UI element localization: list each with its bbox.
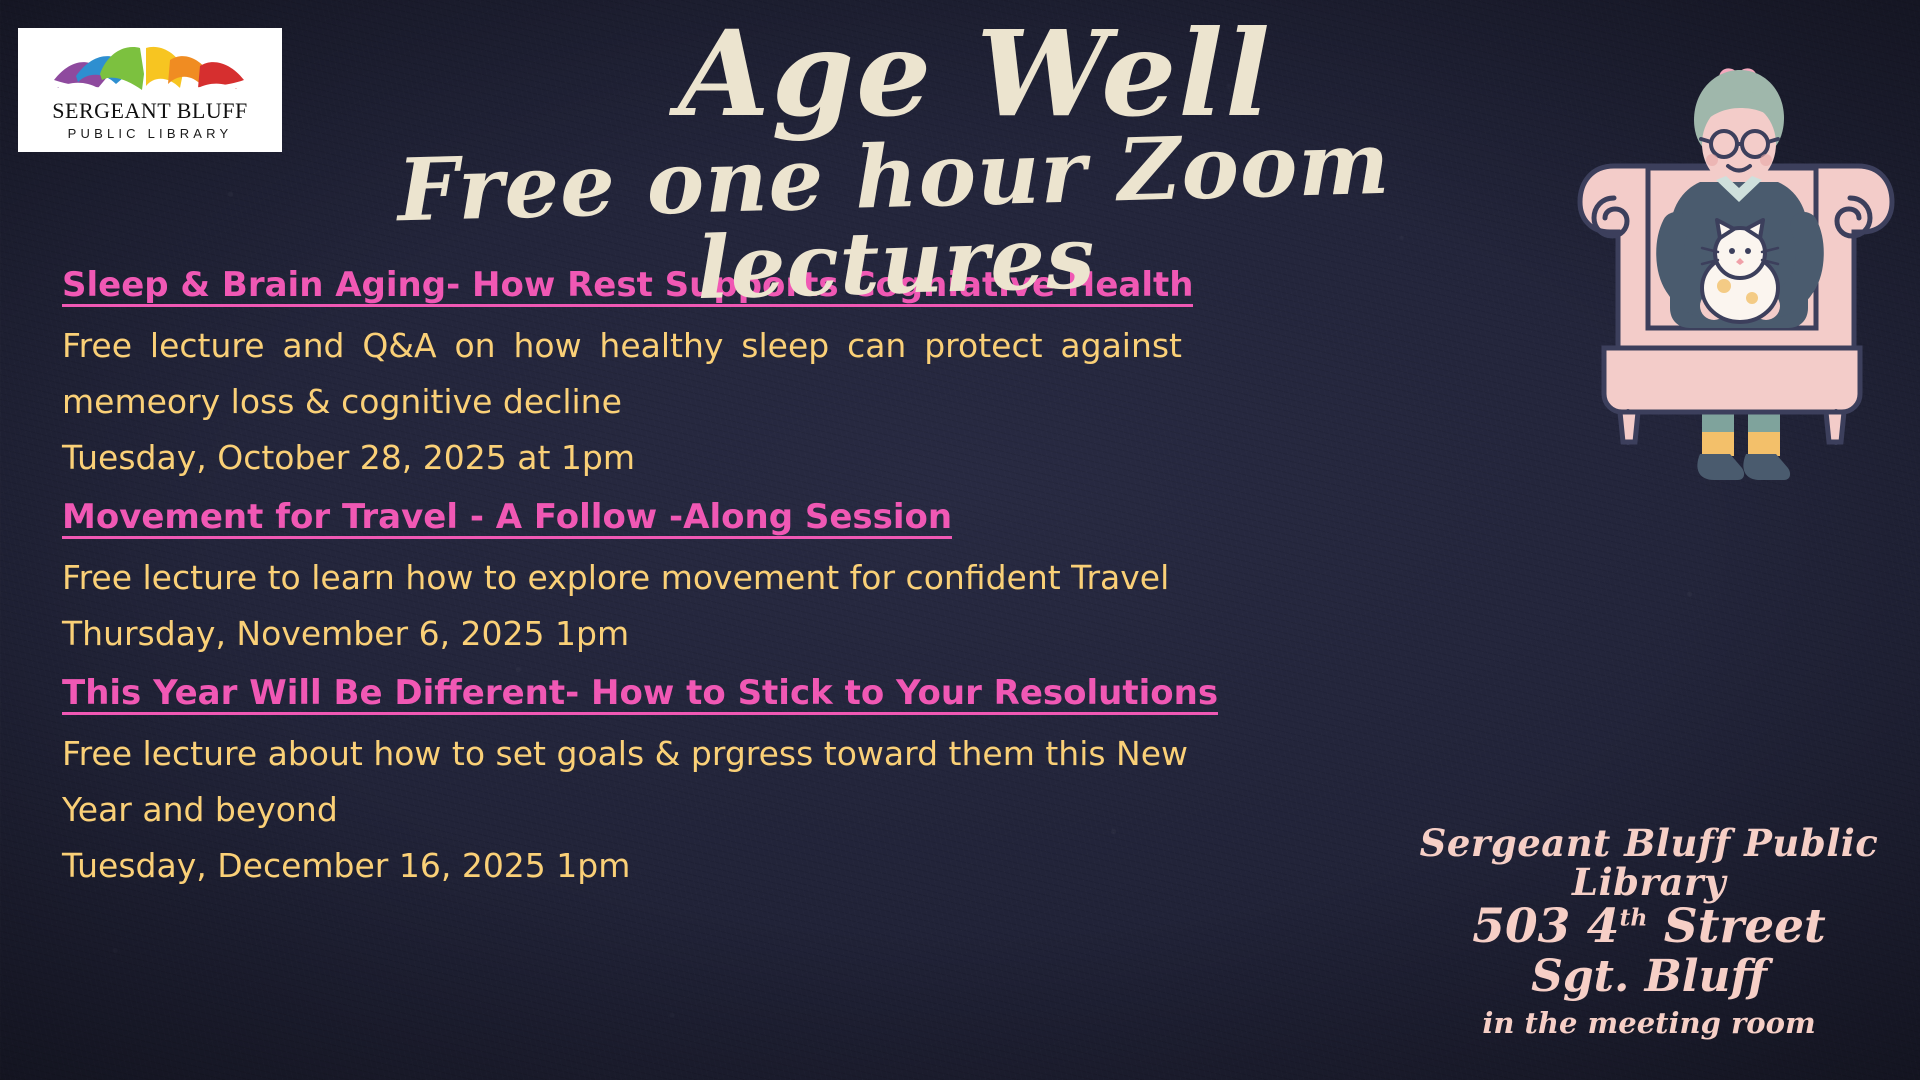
- library-logo: SERGEANT BLUFF PUBLIC LIBRARY: [18, 28, 282, 152]
- lecture-datetime: Tuesday, December 16, 2025 1pm: [62, 849, 1202, 882]
- lecture-description-line: memeory loss & cognitive decline: [62, 385, 1202, 418]
- address-line-4: in the meeting room: [1414, 1008, 1884, 1038]
- lecture-description-line: Free lecture about how to set goals & pr…: [62, 737, 1202, 770]
- lecture-datetime: Tuesday, October 28, 2025 at 1pm: [62, 441, 1202, 474]
- lectures-list: Sleep & Brain Aging- How Rest Supports C…: [62, 268, 1202, 882]
- address-street-word: Street: [1647, 899, 1825, 954]
- page-title: Age Well: [250, 18, 1580, 130]
- lecture-item-2: Movement for Travel - A Follow -Along Se…: [62, 500, 1202, 650]
- address-line-3: Sgt. Bluff: [1414, 954, 1884, 1000]
- lecture-description-line: Year and beyond: [62, 793, 1202, 826]
- address-line-2: 503 4th Street: [1414, 903, 1884, 952]
- lecture-title: This Year Will Be Different- How to Stic…: [62, 676, 1218, 715]
- address-ordinal-suffix: th: [1619, 904, 1647, 932]
- lecture-title: Movement for Travel - A Follow -Along Se…: [62, 500, 952, 539]
- lecture-item-1: Sleep & Brain Aging- How Rest Supports C…: [62, 268, 1202, 474]
- poster-canvas: SERGEANT BLUFF PUBLIC LIBRARY Age Well F…: [0, 0, 1920, 1080]
- library-address: Sergeant Bluff Public Library 503 4th St…: [1414, 824, 1884, 1038]
- logo-library-name: SERGEANT BLUFF: [52, 100, 247, 122]
- address-street-number: 503 4: [1472, 899, 1619, 954]
- lecture-datetime: Thursday, November 6, 2025 1pm: [62, 617, 1202, 650]
- lecture-description-line: Free lecture and Q&A on how healthy slee…: [62, 329, 1182, 362]
- poster-header: Age Well Free one hour Zoom lectures: [250, 18, 1580, 306]
- lecture-description-line: Free lecture to learn how to explore mov…: [62, 561, 1202, 594]
- elderly-woman-with-cat-icon: [1552, 48, 1912, 568]
- open-book-rainbow-logo-icon: [50, 40, 250, 98]
- elderly-woman-with-cat-illustration: [1552, 48, 1912, 568]
- logo-library-subtitle: PUBLIC LIBRARY: [68, 127, 233, 140]
- lecture-item-3: This Year Will Be Different- How to Stic…: [62, 676, 1202, 882]
- lecture-title: Sleep & Brain Aging- How Rest Supports C…: [62, 268, 1193, 307]
- address-line-1: Sergeant Bluff Public Library: [1414, 824, 1884, 901]
